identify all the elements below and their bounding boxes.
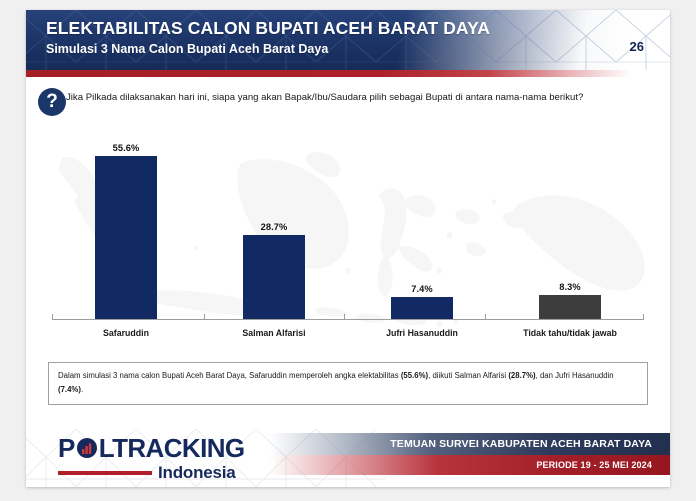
logo-indonesia-text: Indonesia [158, 464, 236, 481]
x-label-safaruddin: Safaruddin [52, 328, 200, 338]
poltracking-logo: P LTRACKING Indonesia [58, 435, 245, 481]
plot-region: 55.6% 28.7% 7.4% 8.3% [44, 138, 652, 320]
x-label-tidak-tahu: Tidak tahu/tidak jawab [496, 328, 644, 338]
header-red-divider [26, 70, 670, 77]
note-mid-2: , dan Jufri Hasanuddin [536, 371, 614, 380]
page-subtitle: Simulasi 3 Nama Calon Bupati Aceh Barat … [46, 42, 490, 56]
question-block: ? Jika Pilkada dilaksanakan hari ini, si… [26, 88, 670, 128]
survey-period-text: PERIODE 19 - 25 MEI 2024 [536, 460, 652, 470]
page-title: ELEKTABILITAS CALON BUPATI ACEH BARAT DA… [46, 18, 490, 38]
survey-period-banner: PERIODE 19 - 25 MEI 2024 [270, 455, 670, 475]
bar-tidak-tahu [539, 295, 601, 319]
logo-subline: Indonesia [58, 464, 245, 481]
note-suffix: . [81, 385, 83, 394]
note-value-2: (28.7%) [508, 371, 535, 380]
logo-red-rule [58, 471, 152, 475]
survey-title-banner: TEMUAN SURVEI KABUPATEN ACEH BARAT DAYA [270, 433, 670, 455]
bar-value-label: 55.6% [113, 143, 140, 153]
footer-banner: TEMUAN SURVEI KABUPATEN ACEH BARAT DAYA … [270, 429, 670, 487]
question-mark-icon: ? [38, 88, 66, 116]
bar-group: 28.7% [200, 138, 348, 319]
note-value-3: (7.4%) [58, 385, 81, 394]
bar-salman-alfarisi [243, 235, 305, 319]
note-value-1: (55.6%) [401, 371, 428, 380]
logo-wordmark-rest: LTRACKING [99, 435, 245, 461]
logo-wordmark: P LTRACKING [58, 435, 245, 461]
axis-tick [485, 314, 486, 320]
bar-safaruddin [95, 156, 157, 319]
bar-group: 7.4% [348, 138, 496, 319]
x-label-salman-alfarisi: Salman Alfarisi [200, 328, 348, 338]
slide-container: ELEKTABILITAS CALON BUPATI ACEH BARAT DA… [26, 10, 670, 487]
bar-group: 8.3% [496, 138, 644, 319]
summary-note-box: Dalam simulasi 3 nama calon Bupati Aceh … [48, 362, 648, 405]
x-axis-line [52, 319, 644, 320]
slide-header: ELEKTABILITAS CALON BUPATI ACEH BARAT DA… [26, 10, 670, 70]
x-label-jufri-hasanuddin: Jufri Hasanuddin [348, 328, 496, 338]
bar-jufri-hasanuddin [391, 297, 453, 319]
logo-chart-icon [76, 437, 98, 459]
page-number: 26 [630, 39, 644, 54]
note-prefix: Dalam simulasi 3 nama calon Bupati Aceh … [58, 371, 401, 380]
axis-tick [52, 314, 53, 320]
question-text: Jika Pilkada dilaksanakan hari ini, siap… [66, 88, 636, 106]
bar-value-label: 28.7% [261, 222, 288, 232]
summary-note-text: Dalam simulasi 3 nama calon Bupati Aceh … [58, 369, 638, 396]
bar-chart: 55.6% 28.7% 7.4% 8.3% [44, 138, 652, 348]
logo-letter-p: P [58, 435, 75, 461]
axis-tick [204, 314, 205, 320]
bar-value-label: 7.4% [411, 284, 433, 294]
bar-series: 55.6% 28.7% 7.4% 8.3% [52, 138, 644, 319]
bar-group: 55.6% [52, 138, 200, 319]
slide-footer: P LTRACKING Indonesia TEMUAN SURVEI [26, 429, 670, 487]
note-mid-1: , diikuti Salman Alfarisi [428, 371, 508, 380]
header-text-block: ELEKTABILITAS CALON BUPATI ACEH BARAT DA… [46, 18, 490, 56]
bar-value-label: 8.3% [559, 282, 581, 292]
axis-tick [643, 314, 644, 320]
survey-title-text: TEMUAN SURVEI KABUPATEN ACEH BARAT DAYA [390, 438, 652, 450]
x-axis-labels: Safaruddin Salman Alfarisi Jufri Hasanud… [52, 322, 644, 348]
axis-tick [344, 314, 345, 320]
